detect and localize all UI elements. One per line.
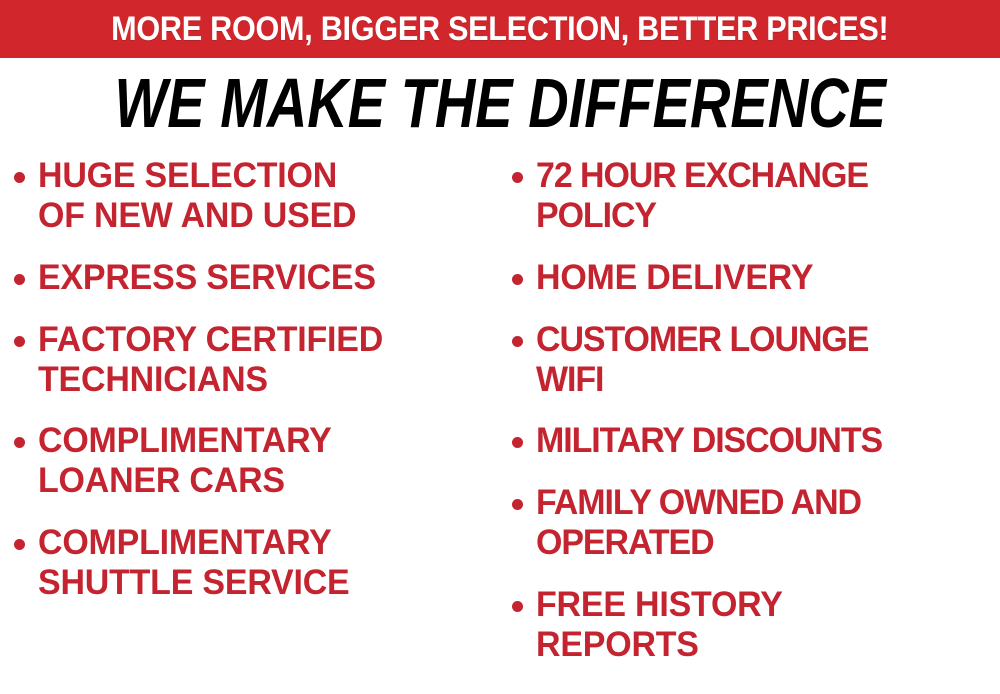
benefit-label: FACTORY CERTIFIED TECHNICIANS (38, 320, 383, 400)
bullet-dot-icon (512, 601, 523, 612)
list-item: FAMILY OWNED AND OPERATED (512, 483, 1000, 563)
bullet-dot-icon (512, 172, 523, 183)
bullet-dot-icon (14, 274, 25, 285)
benefits-column-right: 72 HOUR EXCHANGE POLICY HOME DELIVERY CU… (512, 156, 1000, 694)
bullet-dot-icon (512, 336, 523, 347)
bullet-dot-icon (512, 437, 523, 448)
list-item: COMPLIMENTARY LOANER CARS (14, 421, 506, 501)
benefit-label: COMPLIMENTARY SHUTTLE SERVICE (38, 523, 350, 603)
list-item: FACTORY CERTIFIED TECHNICIANS (14, 320, 506, 400)
benefits-column-left: HUGE SELECTION OF NEW AND USED EXPRESS S… (14, 156, 506, 694)
promotional-poster: MORE ROOM, BIGGER SELECTION, BETTER PRIC… (0, 0, 1000, 694)
bullet-dot-icon (14, 539, 25, 550)
benefit-label: COMPLIMENTARY LOANER CARS (38, 421, 332, 501)
bullet-dot-icon (512, 499, 523, 510)
bullet-dot-icon (512, 274, 523, 285)
headline-container: WE MAKE THE DIFFERENCE (0, 62, 1000, 144)
benefit-label: MILITARY DISCOUNTS (536, 421, 882, 461)
benefit-label: 72 HOUR EXCHANGE POLICY (536, 156, 868, 236)
list-item: MILITARY DISCOUNTS (512, 421, 1000, 461)
list-item: CUSTOMER LOUNGE WIFI (512, 320, 1000, 400)
benefits-columns: HUGE SELECTION OF NEW AND USED EXPRESS S… (0, 156, 1000, 694)
top-banner: MORE ROOM, BIGGER SELECTION, BETTER PRIC… (0, 0, 1000, 58)
benefit-label: FREE HISTORY REPORTS (536, 585, 783, 665)
benefit-label: CUSTOMER LOUNGE WIFI (536, 320, 868, 400)
banner-headline-text: MORE ROOM, BIGGER SELECTION, BETTER PRIC… (111, 12, 888, 46)
bullet-dot-icon (14, 172, 25, 183)
list-item: 72 HOUR EXCHANGE POLICY (512, 156, 1000, 236)
list-item: HUGE SELECTION OF NEW AND USED (14, 156, 506, 236)
bullet-dot-icon (14, 336, 25, 347)
list-item: FREE HISTORY REPORTS (512, 585, 1000, 665)
list-item: HOME DELIVERY (512, 258, 1000, 298)
benefit-label: HOME DELIVERY (536, 258, 813, 298)
page-title: WE MAKE THE DIFFERENCE (114, 68, 886, 138)
benefit-label: FAMILY OWNED AND OPERATED (536, 483, 861, 563)
benefit-label: HUGE SELECTION OF NEW AND USED (38, 156, 356, 236)
list-item: COMPLIMENTARY SHUTTLE SERVICE (14, 523, 506, 603)
list-item: EXPRESS SERVICES (14, 258, 506, 298)
bullet-dot-icon (14, 437, 25, 448)
benefit-label: EXPRESS SERVICES (38, 258, 376, 298)
